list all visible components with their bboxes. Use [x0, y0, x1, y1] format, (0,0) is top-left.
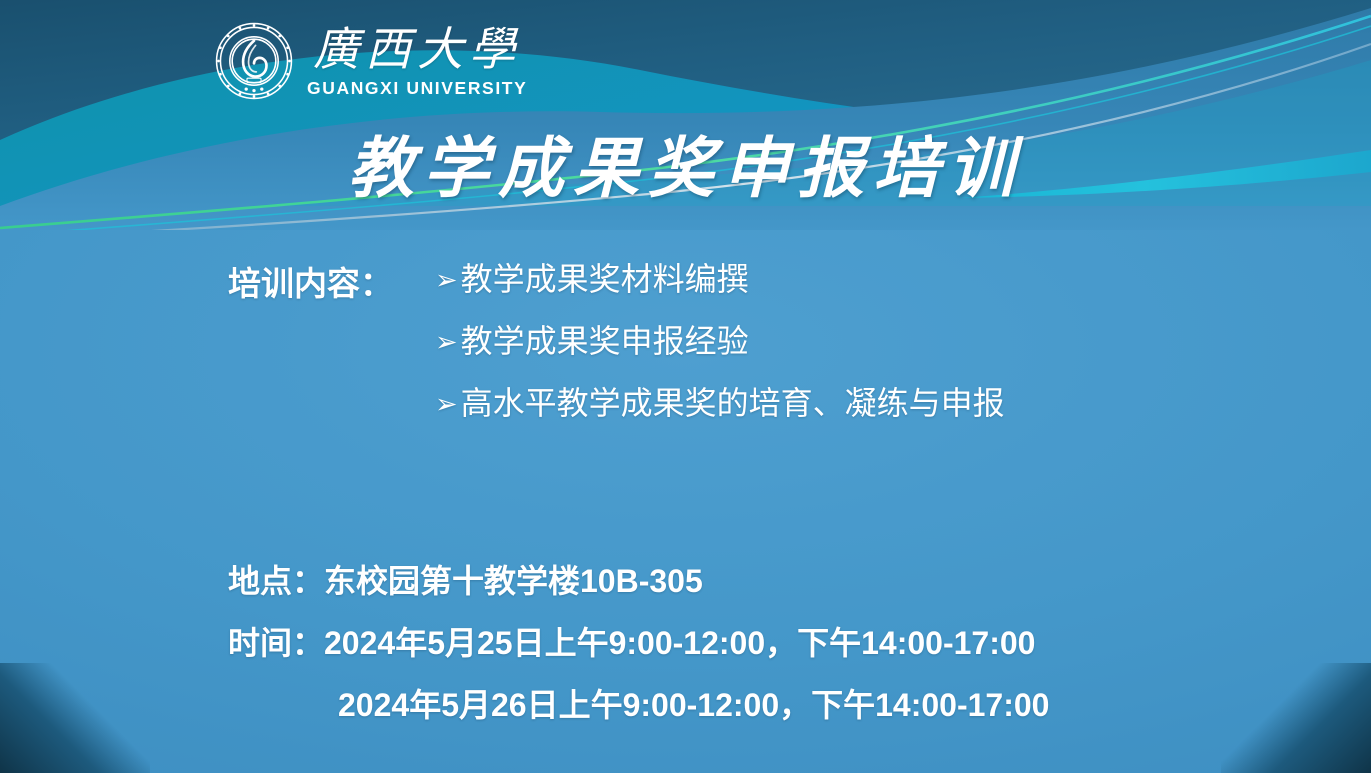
training-topic-text: 高水平教学成果奖的培育、凝练与申报	[461, 387, 1005, 419]
logistics-line: 2024年5月26日上午9:00-12:00，下午14:00-17:00	[228, 689, 1049, 721]
wordmark-chinese: 廣西大學	[313, 26, 521, 72]
bullet-arrow-icon: ➢	[435, 391, 458, 418]
logistics-line: 时间：2024年5月25日上午9:00-12:00，下午14:00-17:00	[228, 627, 1049, 659]
training-topic-text: 教学成果奖申报经验	[461, 325, 749, 357]
bullet-arrow-icon: ➢	[435, 329, 458, 356]
logistics-block: 地点：东校园第十教学楼10B-305时间：2024年5月25日上午9:00-12…	[228, 565, 1049, 721]
wordmark-english: GUANGXI UNIVERSITY	[307, 78, 527, 99]
training-topic-item: ➢教学成果奖材料编撰	[435, 263, 1005, 295]
training-topic-item: ➢教学成果奖申报经验	[435, 325, 1005, 357]
corner-accent-right	[1221, 663, 1371, 773]
training-topic-list: ➢教学成果奖材料编撰➢教学成果奖申报经验➢高水平教学成果奖的培育、凝练与申报	[435, 263, 1005, 419]
slide-title: 教学成果奖申报培训	[0, 133, 1371, 204]
training-topic-item: ➢高水平教学成果奖的培育、凝练与申报	[435, 387, 1005, 419]
training-content-block: 培训内容： ➢教学成果奖材料编撰➢教学成果奖申报经验➢高水平教学成果奖的培育、凝…	[228, 263, 1005, 419]
training-content-label: 培训内容：	[228, 263, 393, 300]
university-logo-lockup: 廣西大學 GUANGXI UNIVERSITY	[215, 22, 527, 100]
presentation-slide: 廣西大學 GUANGXI UNIVERSITY 教学成果奖申报培训 培训内容： …	[0, 0, 1371, 773]
bullet-arrow-icon: ➢	[435, 267, 458, 294]
corner-accent-left	[0, 663, 150, 773]
guangxi-university-seal-icon	[215, 22, 293, 100]
training-topic-text: 教学成果奖材料编撰	[461, 263, 749, 295]
logistics-line: 地点：东校园第十教学楼10B-305	[228, 565, 1049, 597]
